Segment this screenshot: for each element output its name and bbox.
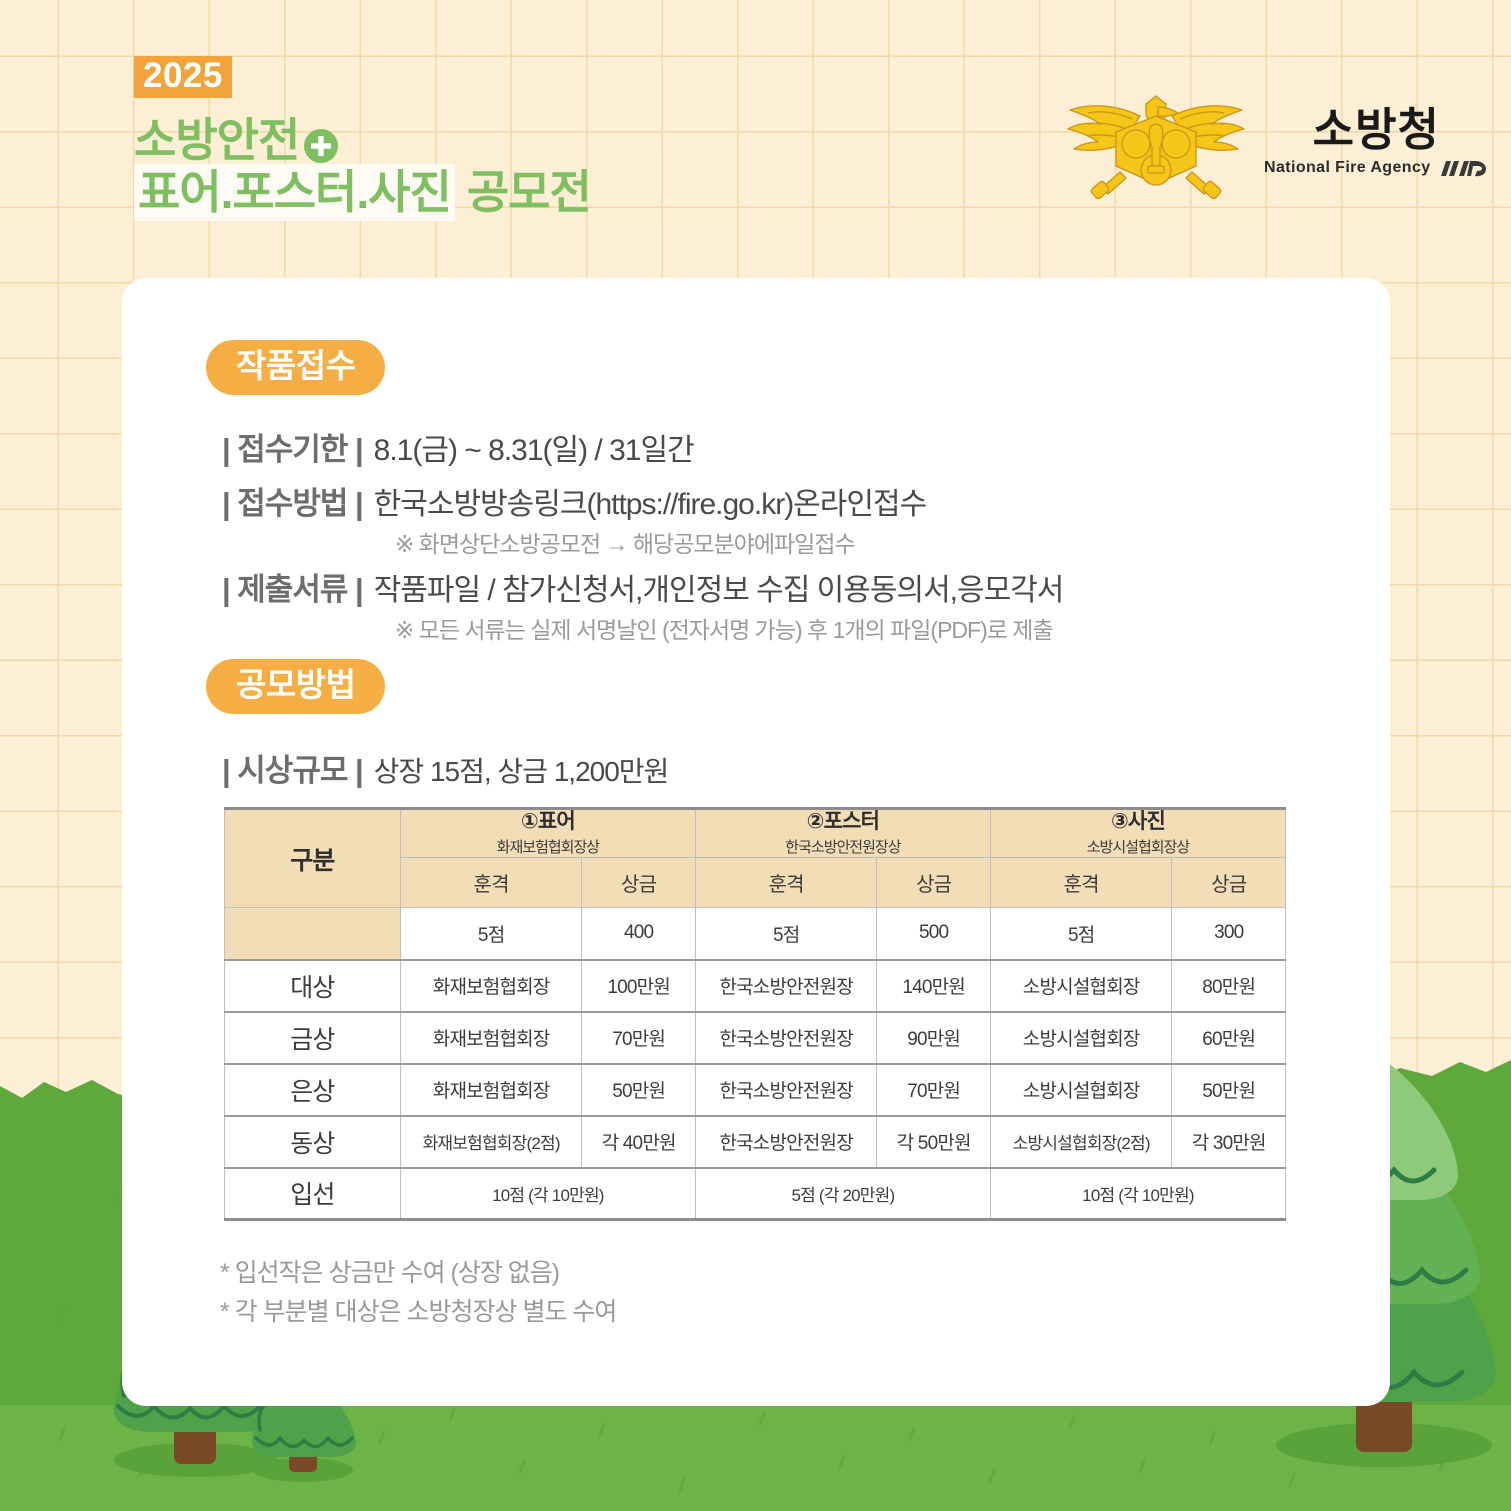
merit-cell-1: 10점 (각 10만원) — [400, 1168, 695, 1220]
year-badge: 2025 — [134, 56, 232, 98]
footnote-2: * 각 부분별 대상은 소방청장상 별도 수여 — [220, 1292, 616, 1328]
award-honor-3-2: 소방시설협회장(2점) — [990, 1116, 1172, 1168]
award-table: 구분 ①표어 화재보험협회장상 ②포스터 한국소방안전원장상 ③사진 소방시설협… — [224, 807, 1286, 1221]
category-3-subtitle: 소방시설협회장상 — [991, 836, 1285, 857]
subheader-honor-2: 훈격 — [695, 858, 877, 908]
category-1-subtitle: 화재보험협회장상 — [401, 836, 695, 857]
award-honor-2-1: 한국소방안전원장 — [695, 1064, 877, 1116]
row-deadline: | 접수기한 | 8.1(금) ~ 8.31(일) / 31일간 — [222, 424, 694, 469]
method-note: ※ 화면상단소방공모전 → 해당공모분야에파일접수 — [395, 525, 855, 559]
award-prize-3-0: 각 40만원 — [582, 1116, 695, 1168]
award-prize-2-0: 50만원 — [582, 1064, 695, 1116]
category-2-subtitle: 한국소방안전원장상 — [696, 836, 990, 857]
title-highlight-text: 표어.포스터.사진 — [134, 164, 455, 221]
quota-2: 5점 — [695, 908, 877, 960]
quota-3: 5점 — [990, 908, 1172, 960]
prize-total-3: 300 — [1172, 908, 1286, 960]
table-row: 은상 화재보험협회장 50만원 한국소방안전원장 70만원 소방시설협회장 50… — [225, 1064, 1286, 1116]
award-prize-1-0: 70만원 — [582, 1012, 695, 1064]
title-line-1: 소방안전 — [134, 104, 338, 170]
quota-1: 5점 — [400, 908, 582, 960]
merit-cell-3: 10점 (각 10만원) — [990, 1168, 1285, 1220]
award-honor-1-1: 한국소방안전원장 — [695, 1012, 877, 1064]
category-1-title: ①표어 — [401, 810, 695, 834]
title-line-2: 표어.포스터.사진 공모전 — [134, 164, 591, 221]
subheader-prize-1: 상금 — [582, 858, 695, 908]
award-honor-2-2: 소방시설협회장 — [990, 1064, 1172, 1116]
award-honor-3-0: 화재보험협회장(2점) — [400, 1116, 582, 1168]
award-scale-value: 상장 15점, 상금 1,200만원 — [374, 750, 669, 790]
table-row: 동상 화재보험협회장(2점) 각 40만원 한국소방안전원장 각 50만원 소방… — [225, 1116, 1286, 1168]
award-honor-0-0: 화재보험협회장 — [400, 960, 582, 1012]
section-pill-method: 공모방법 — [206, 659, 385, 714]
category-3-title: ③사진 — [991, 810, 1285, 834]
award-prize-1-2: 60만원 — [1172, 1012, 1286, 1064]
award-honor-1-2: 소방시설협회장 — [990, 1012, 1172, 1064]
award-prize-0-2: 80만원 — [1172, 960, 1286, 1012]
award-prize-0-1: 140만원 — [877, 960, 990, 1012]
method-label: | 접수방법 | — [222, 478, 363, 523]
gubun-header-cell: 구분 — [225, 809, 401, 908]
merit-cell-2: 5점 (각 20만원) — [695, 1168, 990, 1220]
table-row-merit: 입선 10점 (각 10만원) 5점 (각 20만원) 10점 (각 10만원) — [225, 1168, 1286, 1220]
agency-name-block: 소방청 National Fire Agency — [1264, 106, 1489, 181]
title-tail-text: 공모전 — [467, 166, 591, 221]
award-label-0: 대상 — [225, 960, 401, 1012]
row-method: | 접수방법 | 한국소방방송링크(https://fire.go.kr)온라인… — [222, 478, 926, 523]
prize-total-2: 500 — [877, 908, 990, 960]
documents-note: ※ 모든 서류는 실제 서명날인 (전자서명 가능) 후 1개의 파일(PDF)… — [395, 611, 1053, 645]
table-row-quota: 5점 400 5점 500 5점 300 — [225, 908, 1286, 960]
subheader-honor-1: 훈격 — [400, 858, 582, 908]
award-label-1: 금상 — [225, 1012, 401, 1064]
agency-logo: 소방청 National Fire Agency — [1062, 88, 1489, 200]
agency-name-en: National Fire Agency — [1264, 159, 1431, 177]
subheader-prize-3: 상금 — [1172, 858, 1286, 908]
award-label-2: 은상 — [225, 1064, 401, 1116]
plus-icon — [304, 120, 338, 154]
award-honor-1-0: 화재보험협회장 — [400, 1012, 582, 1064]
gubun-header-text: 구분 — [225, 841, 400, 877]
section-pill-submission: 작품접수 — [206, 340, 385, 395]
category-header-2: ②포스터 한국소방안전원장상 — [695, 809, 990, 858]
category-header-1: ①표어 화재보험협회장상 — [400, 809, 695, 858]
row-documents: | 제출서류 | 작품파일 / 참가신청서,개인정보 수집 이용동의서,응모각서 — [222, 564, 1063, 609]
award-honor-3-1: 한국소방안전원장 — [695, 1116, 877, 1168]
award-honor-0-1: 한국소방안전원장 — [695, 960, 877, 1012]
deadline-value: 8.1(금) ~ 8.31(일) / 31일간 — [374, 425, 694, 469]
documents-label: | 제출서류 | — [222, 564, 363, 609]
award-prize-3-1: 각 50만원 — [877, 1116, 990, 1168]
award-prize-2-2: 50만원 — [1172, 1064, 1286, 1116]
documents-value: 작품파일 / 참가신청서,개인정보 수집 이용동의서,응모각서 — [374, 565, 1064, 609]
row-award-scale: | 시상규모 | 상장 15점, 상금 1,200만원 — [222, 745, 668, 790]
table-header-categories: 구분 ①표어 화재보험협회장상 ②포스터 한국소방안전원장상 ③사진 소방시설협… — [225, 809, 1286, 858]
poster-header: 2025 소방안전 표어.포스터.사진 공모전 — [0, 0, 1511, 250]
subheader-prize-2: 상금 — [877, 858, 990, 908]
quota-row-blank — [225, 908, 401, 960]
table-row: 금상 화재보험협회장 70만원 한국소방안전원장 90만원 소방시설협회장 60… — [225, 1012, 1286, 1064]
prize-total-1: 400 — [582, 908, 695, 960]
subheader-honor-3: 훈격 — [990, 858, 1172, 908]
award-scale-label: | 시상규모 | — [222, 745, 363, 790]
merit-label: 입선 — [225, 1168, 401, 1220]
119-mark-icon — [1437, 159, 1489, 178]
award-honor-2-0: 화재보험협회장 — [400, 1064, 582, 1116]
award-honor-0-2: 소방시설협회장 — [990, 960, 1172, 1012]
agency-name-kr: 소방청 — [1313, 106, 1440, 153]
award-label-3: 동상 — [225, 1116, 401, 1168]
table-row: 대상 화재보험협회장 100만원 한국소방안전원장 140만원 소방시설협회장 … — [225, 960, 1286, 1012]
award-prize-2-1: 70만원 — [877, 1064, 990, 1116]
award-prize-0-0: 100만원 — [582, 960, 695, 1012]
agency-name-en-row: National Fire Agency — [1264, 159, 1489, 178]
title-line-1-text: 소방안전 — [134, 104, 299, 170]
national-fire-agency-eagle-emblem — [1062, 88, 1250, 200]
category-header-3: ③사진 소방시설협회장상 — [990, 809, 1285, 858]
footnote-1: * 입선작은 상금만 수여 (상장 없음) — [220, 1253, 559, 1289]
award-prize-3-2: 각 30만원 — [1172, 1116, 1286, 1168]
award-prize-1-1: 90만원 — [877, 1012, 990, 1064]
category-2-title: ②포스터 — [696, 810, 990, 834]
deadline-label: | 접수기한 | — [222, 424, 363, 469]
method-value: 한국소방방송링크(https://fire.go.kr)온라인접수 — [374, 479, 927, 523]
